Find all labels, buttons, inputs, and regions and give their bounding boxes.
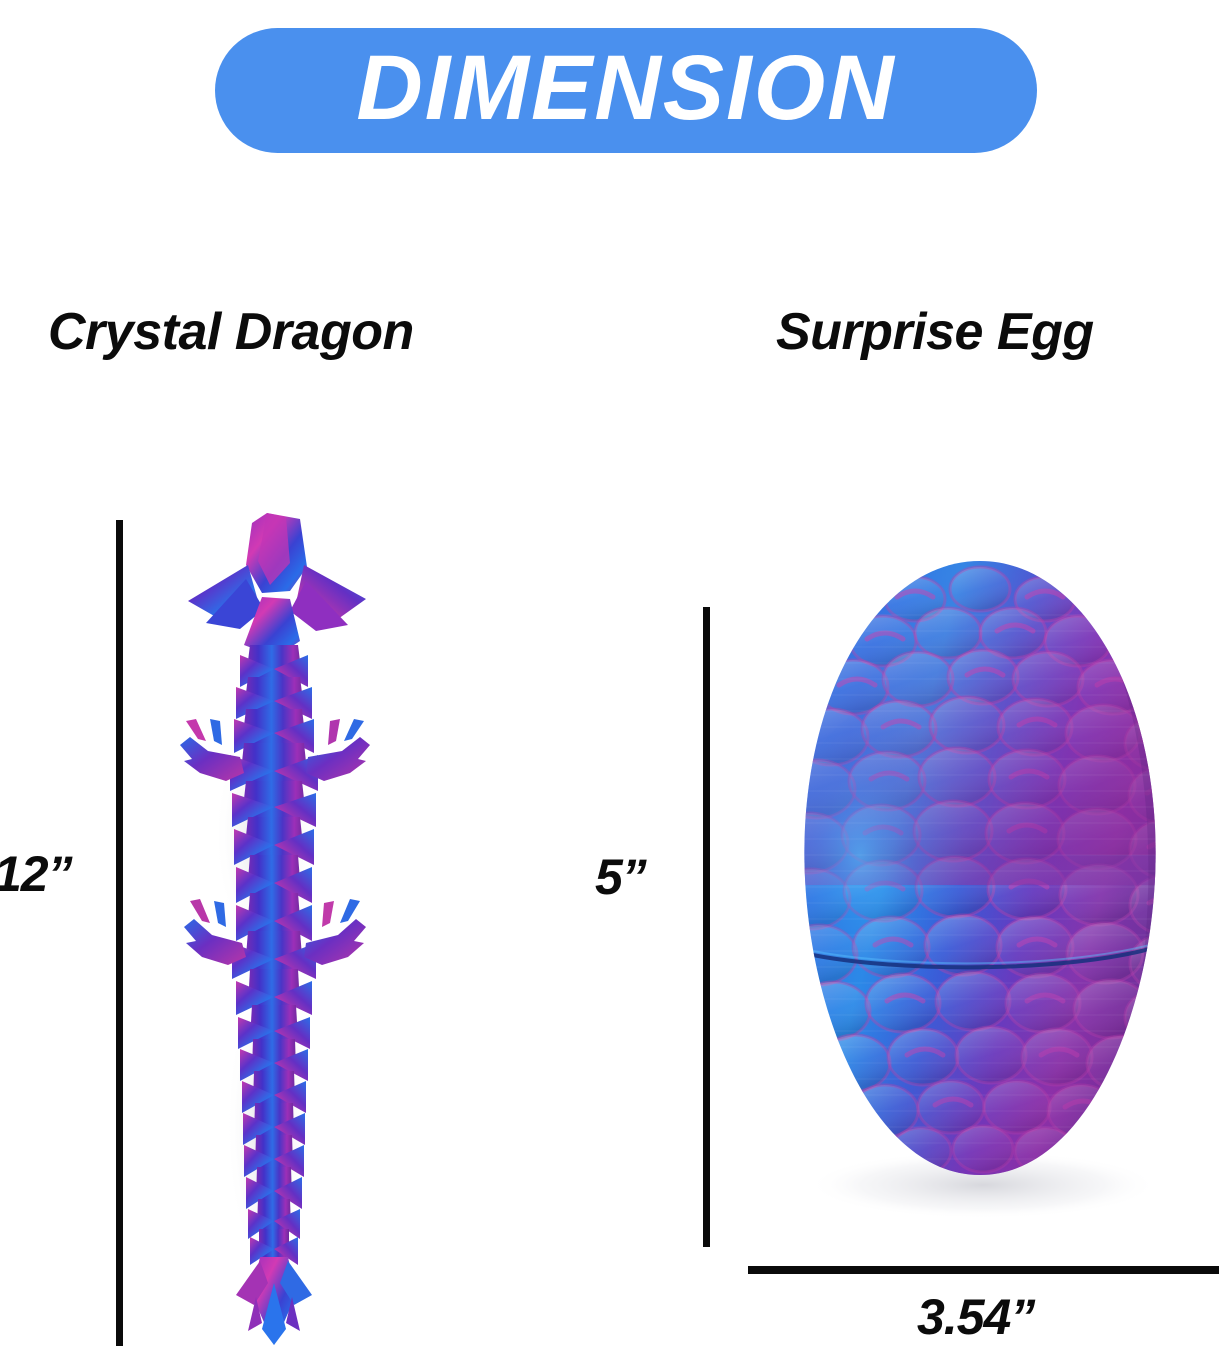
dimension-banner: DIMENSION — [215, 28, 1037, 153]
egg-height-measure-line — [703, 607, 710, 1247]
dragon-height-measure-line — [116, 520, 123, 1346]
crystal-dragon-figurine — [170, 505, 395, 1350]
dragon-scale-egg — [735, 555, 1219, 1255]
page-title: DIMENSION — [356, 42, 895, 134]
dragon-tail-fin — [236, 1257, 312, 1345]
egg-width-measure-line — [748, 1266, 1219, 1274]
dragon-height-label: 12” — [0, 845, 72, 903]
product-label-surprise-egg: Surprise Egg — [776, 302, 1094, 362]
egg-width-label: 3.54” — [917, 1288, 1034, 1346]
egg-height-label: 5” — [595, 848, 646, 906]
product-label-crystal-dragon: Crystal Dragon — [48, 302, 414, 362]
infographic-page: DIMENSION Crystal Dragon Surprise Egg 12… — [0, 0, 1219, 1357]
dragon-head — [188, 513, 366, 657]
egg-scale-texture — [735, 555, 1219, 1255]
